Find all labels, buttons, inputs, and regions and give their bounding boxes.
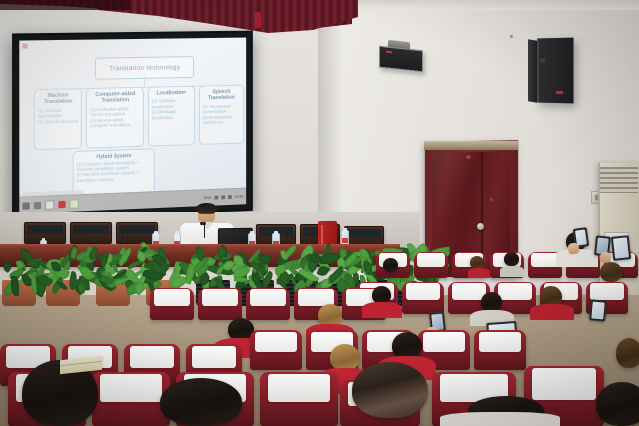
node-heading: Speech Translation: [201, 89, 241, 103]
auditorium-seat[interactable]: [246, 288, 290, 320]
seat-headrest-cover: [590, 283, 624, 300]
connector-line: [144, 77, 145, 87]
wall-speaker-side-panel: [528, 39, 537, 103]
slide-node-speech-translation: Speech Translation (1) Two-person conver…: [199, 85, 245, 145]
audience-head: [481, 292, 502, 312]
tray-language-label: ENG: [204, 196, 212, 200]
slide-title: Translation technology: [109, 64, 180, 72]
door-lintel: [424, 141, 518, 150]
audience-head: [160, 378, 242, 426]
ceiling-strip: [352, 0, 639, 10]
projection-screen-surface: Translation technology Machine Translati…: [19, 38, 246, 214]
audience-head: [600, 262, 622, 282]
audience-head: [318, 304, 342, 326]
speaker-tweeter: [540, 58, 545, 63]
ac-vent-louvers: [600, 167, 638, 193]
audience-head: [504, 252, 519, 266]
curtain-gap: [255, 12, 261, 28]
node-item: (2) Webpage localization: [151, 109, 192, 121]
audience-head: [383, 258, 398, 272]
presenter-glasses: [199, 213, 214, 218]
node-heading: Localization: [151, 90, 192, 97]
audience-shoulders: [440, 412, 560, 426]
microphone-head: [200, 222, 206, 225]
seat-headrest-cover: [255, 332, 297, 353]
battery-icon[interactable]: [228, 195, 232, 199]
notepad-icon[interactable]: [70, 199, 79, 208]
auditorium-seat[interactable]: [260, 372, 338, 426]
presentation-slide: Translation technology Machine Translati…: [26, 43, 241, 191]
auditorium-seat[interactable]: [402, 282, 444, 314]
slide-node-machine-translation: Machine Translation (1) General applicat…: [34, 88, 82, 150]
auditorium-seat[interactable]: [474, 330, 526, 370]
seat-headrest-cover: [154, 289, 189, 306]
start-icon[interactable]: [22, 202, 29, 209]
auditorium-seat[interactable]: [198, 288, 242, 320]
slide-node-computer-aided-translation: Computer-aided Translation (1) Computer-…: [86, 87, 144, 149]
audience-head: [352, 362, 428, 418]
node-item: (2) Specific domains: [37, 118, 79, 125]
audience-head: [596, 382, 639, 426]
speaker-brand-badge: [556, 91, 563, 94]
audience-shoulders: [362, 302, 402, 318]
node-item: (2) Machine translation system + transla…: [77, 170, 151, 183]
node-item: (2) Multi-person conference: [201, 114, 241, 126]
node-item: (2) Human-aided computer translation: [89, 116, 141, 128]
seat-headrest-cover: [531, 253, 558, 267]
audience-head: [616, 338, 639, 368]
audience-shoulders: [468, 268, 490, 278]
seat-headrest-cover: [417, 253, 444, 267]
lecture-hall-photo: Translation technology Machine Translati…: [0, 0, 639, 426]
slide-node-localization: Localization (1) Software localization (…: [148, 86, 195, 147]
seat-headrest-cover: [250, 289, 285, 306]
slide-node-row: Machine Translation (1) General applicat…: [34, 85, 244, 151]
auditorium-seat[interactable]: [92, 372, 170, 426]
powerpoint-icon[interactable]: [58, 200, 65, 207]
seat-headrest-cover: [423, 332, 465, 353]
seat-headrest-cover: [479, 332, 521, 353]
door-knob[interactable]: [477, 223, 484, 230]
seat-headrest-cover: [498, 283, 532, 300]
audience-phone: [611, 235, 631, 261]
taskbar-tray: ENG 14:32: [204, 194, 246, 200]
search-icon[interactable]: [34, 201, 41, 208]
network-icon[interactable]: [214, 196, 218, 200]
explorer-icon[interactable]: [45, 200, 54, 210]
seat-headrest-cover: [192, 346, 237, 368]
seat-headrest-cover: [202, 289, 237, 306]
curtain-shadow: [0, 0, 130, 10]
seat-headrest-cover: [130, 346, 175, 368]
node-heading: Computer-aided Translation: [89, 91, 141, 105]
wall-nail: [510, 35, 513, 38]
door-highlight: [466, 155, 471, 159]
audience-phone: [589, 299, 607, 321]
audience-head: [330, 344, 360, 371]
door-mark: [490, 198, 493, 201]
seat-headrest-cover: [100, 374, 162, 402]
plant-leaf: [233, 255, 243, 266]
auditorium-seat[interactable]: [250, 330, 302, 370]
projection-screen: Translation technology Machine Translati…: [12, 31, 253, 222]
audience-hand: [567, 242, 580, 255]
audience-shoulders: [500, 266, 524, 277]
seat-headrest-cover: [268, 374, 330, 402]
auditorium-seat[interactable]: [414, 252, 448, 278]
microphone-head: [118, 226, 124, 229]
microphone-head: [283, 228, 289, 231]
taskbar-clock[interactable]: 14:32: [235, 195, 244, 199]
audience-shoulders: [530, 304, 574, 320]
seat-headrest-cover: [406, 283, 440, 300]
auditorium-seat[interactable]: [150, 288, 194, 320]
seat-headrest-cover: [532, 368, 596, 399]
volume-icon[interactable]: [221, 195, 225, 199]
node-heading: Machine Translation: [37, 92, 79, 106]
taskbar-left-group: [19, 199, 78, 211]
